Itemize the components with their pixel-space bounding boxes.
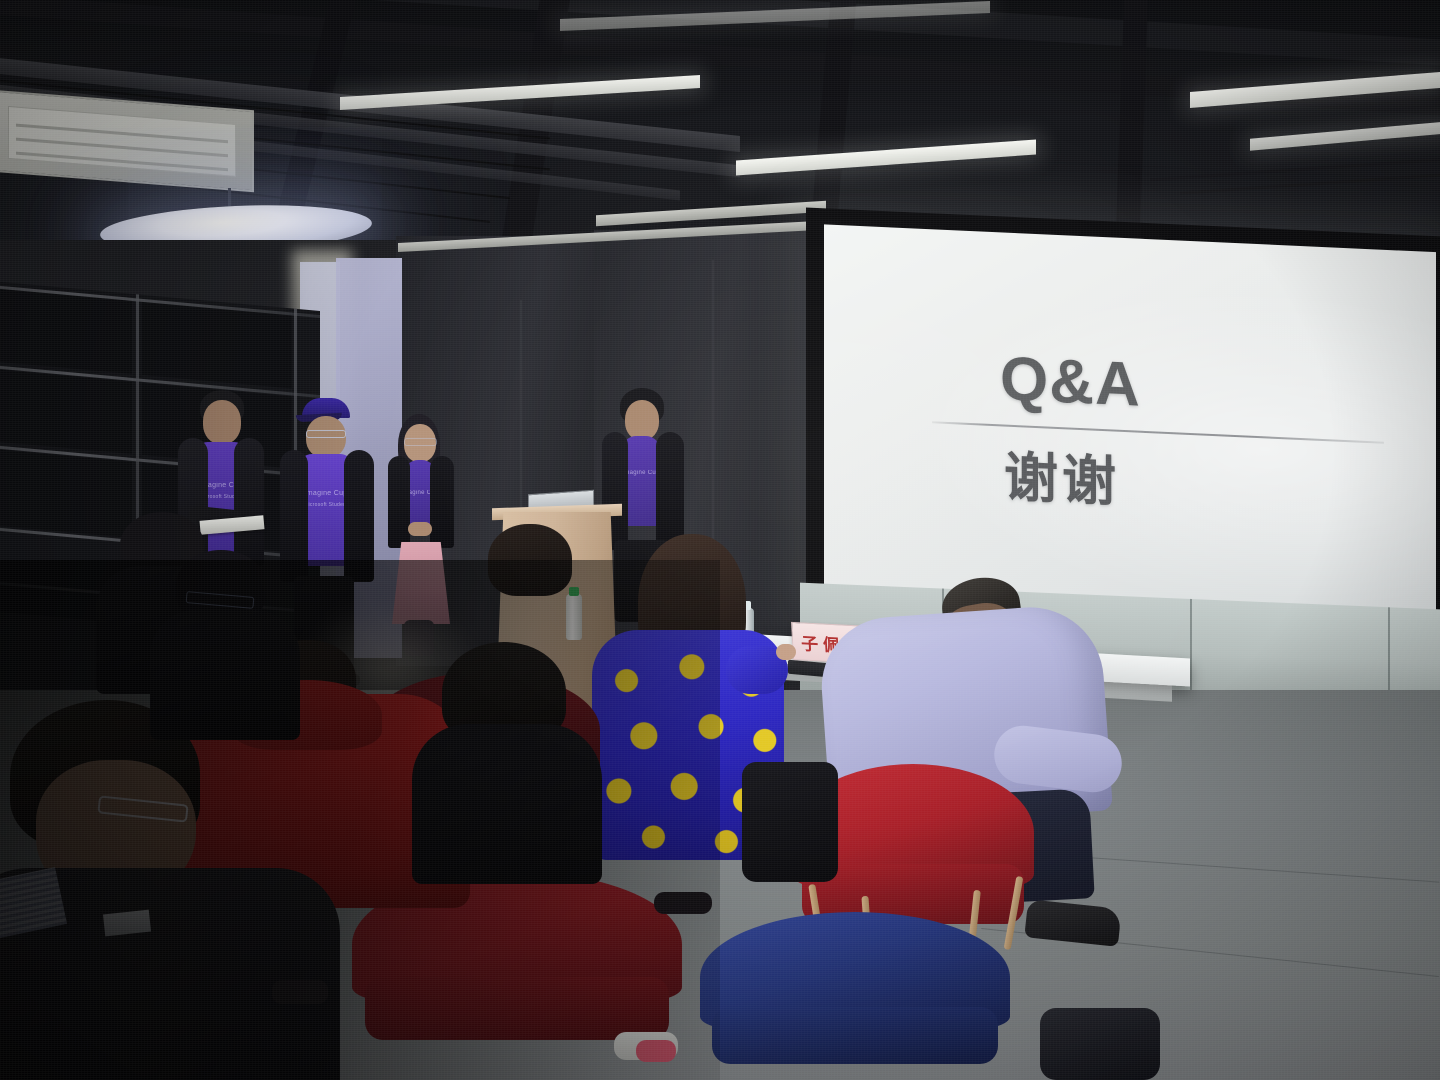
ceiling-light-strip (340, 75, 700, 110)
shoe (1024, 899, 1121, 947)
jacket (344, 450, 374, 582)
bag (1040, 1008, 1160, 1080)
blazer (388, 456, 410, 548)
projection-screen: Q&A 谢谢 (824, 224, 1436, 624)
hands-clasped (408, 522, 432, 536)
slide-content: Q&A (824, 342, 1436, 429)
jacket (656, 432, 684, 550)
audience-dark-rear (150, 550, 300, 740)
shoe (654, 892, 712, 914)
armchair-blue (700, 912, 1010, 1080)
shelf-cell (0, 288, 132, 374)
shoe (272, 980, 328, 1004)
glasses-icon (306, 430, 346, 438)
glasses-icon (404, 438, 437, 446)
head (203, 400, 241, 444)
body (150, 610, 300, 740)
slide-headline: Q&A (1000, 350, 1436, 429)
hand (776, 644, 796, 660)
bag (742, 762, 838, 882)
shoe (636, 1040, 676, 1062)
audience-foreground-glasses (0, 700, 360, 1080)
jacket (234, 438, 264, 566)
ceiling-ac-vent-icon (0, 90, 254, 193)
head (625, 400, 659, 440)
shelf-cell (142, 301, 292, 389)
chair-seat (365, 977, 669, 1040)
presentation-room-photo: Q&A 谢谢 Imagine Cup Microsoft Student (0, 0, 1440, 1080)
ceiling-light-strip (736, 140, 1036, 176)
shelf-cell (0, 370, 132, 454)
body (412, 724, 602, 884)
ceiling-light-strip (1250, 121, 1440, 150)
audience-dark-rear (412, 642, 602, 882)
chair-seat (712, 1007, 997, 1064)
blazer (430, 456, 454, 548)
